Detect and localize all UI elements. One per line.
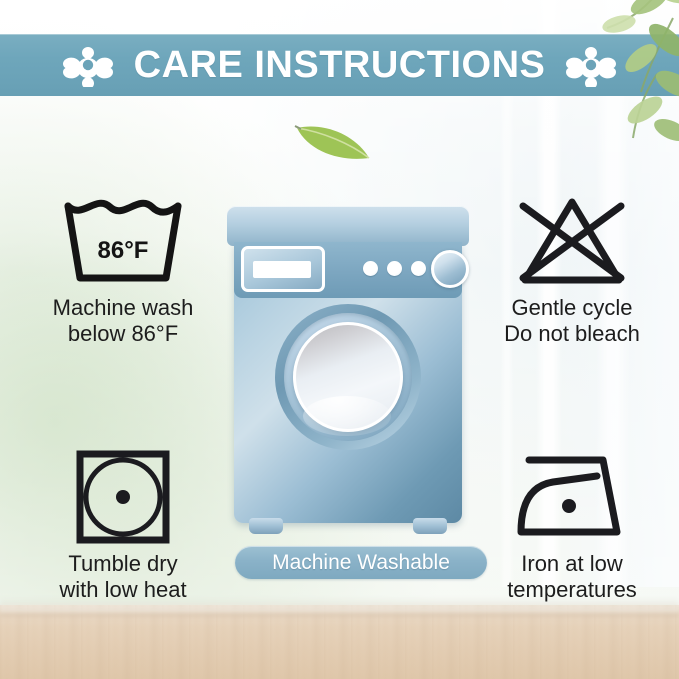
table-edge (0, 603, 679, 619)
header-banner: CARE INSTRUCTIONS (0, 34, 679, 96)
program-knob (431, 250, 469, 288)
indicator-dot (387, 261, 402, 276)
care-instructions-graphic: CARE INSTRUCTIONS (0, 0, 679, 679)
care-symbol-do-not-bleach: Gentle cycle Do not bleach (472, 190, 672, 348)
care-label-machine-wash: Machine wash below 86°F (53, 295, 194, 346)
fleur-de-lis-icon (563, 43, 619, 87)
wash-tub-icon: 86°F (18, 190, 228, 295)
indicator-dot (363, 261, 378, 276)
triangle-crossed-icon (472, 190, 672, 295)
care-symbol-tumble-dry: Tumble dry with low heat (18, 446, 228, 604)
tumble-dry-low-icon (18, 446, 228, 551)
detergent-drawer-slot (253, 261, 311, 278)
care-symbol-iron-low: Iron at low temperatures (472, 446, 672, 604)
care-label-tumble-dry: Tumble dry with low heat (59, 551, 186, 602)
washer-foot (249, 518, 283, 534)
badge-label: Machine Washable (272, 552, 450, 573)
machine-washable-badge: Machine Washable (235, 546, 487, 579)
fleur-de-lis-icon (60, 43, 116, 87)
washer-foot (413, 518, 447, 534)
page-title: CARE INSTRUCTIONS (134, 46, 546, 84)
indicator-dot (411, 261, 426, 276)
iron-one-dot-icon (472, 446, 672, 551)
door-glass-highlight (303, 396, 391, 436)
washer-top-lid (227, 206, 469, 246)
care-symbol-machine-wash: 86°F Machine wash below 86°F (18, 190, 228, 348)
care-label-iron-low: Iron at low temperatures (507, 551, 637, 602)
washing-machine-illustration (227, 206, 469, 536)
wash-temperature-value: 86°F (98, 237, 149, 264)
care-label-do-not-bleach: Gentle cycle Do not bleach (504, 295, 640, 346)
